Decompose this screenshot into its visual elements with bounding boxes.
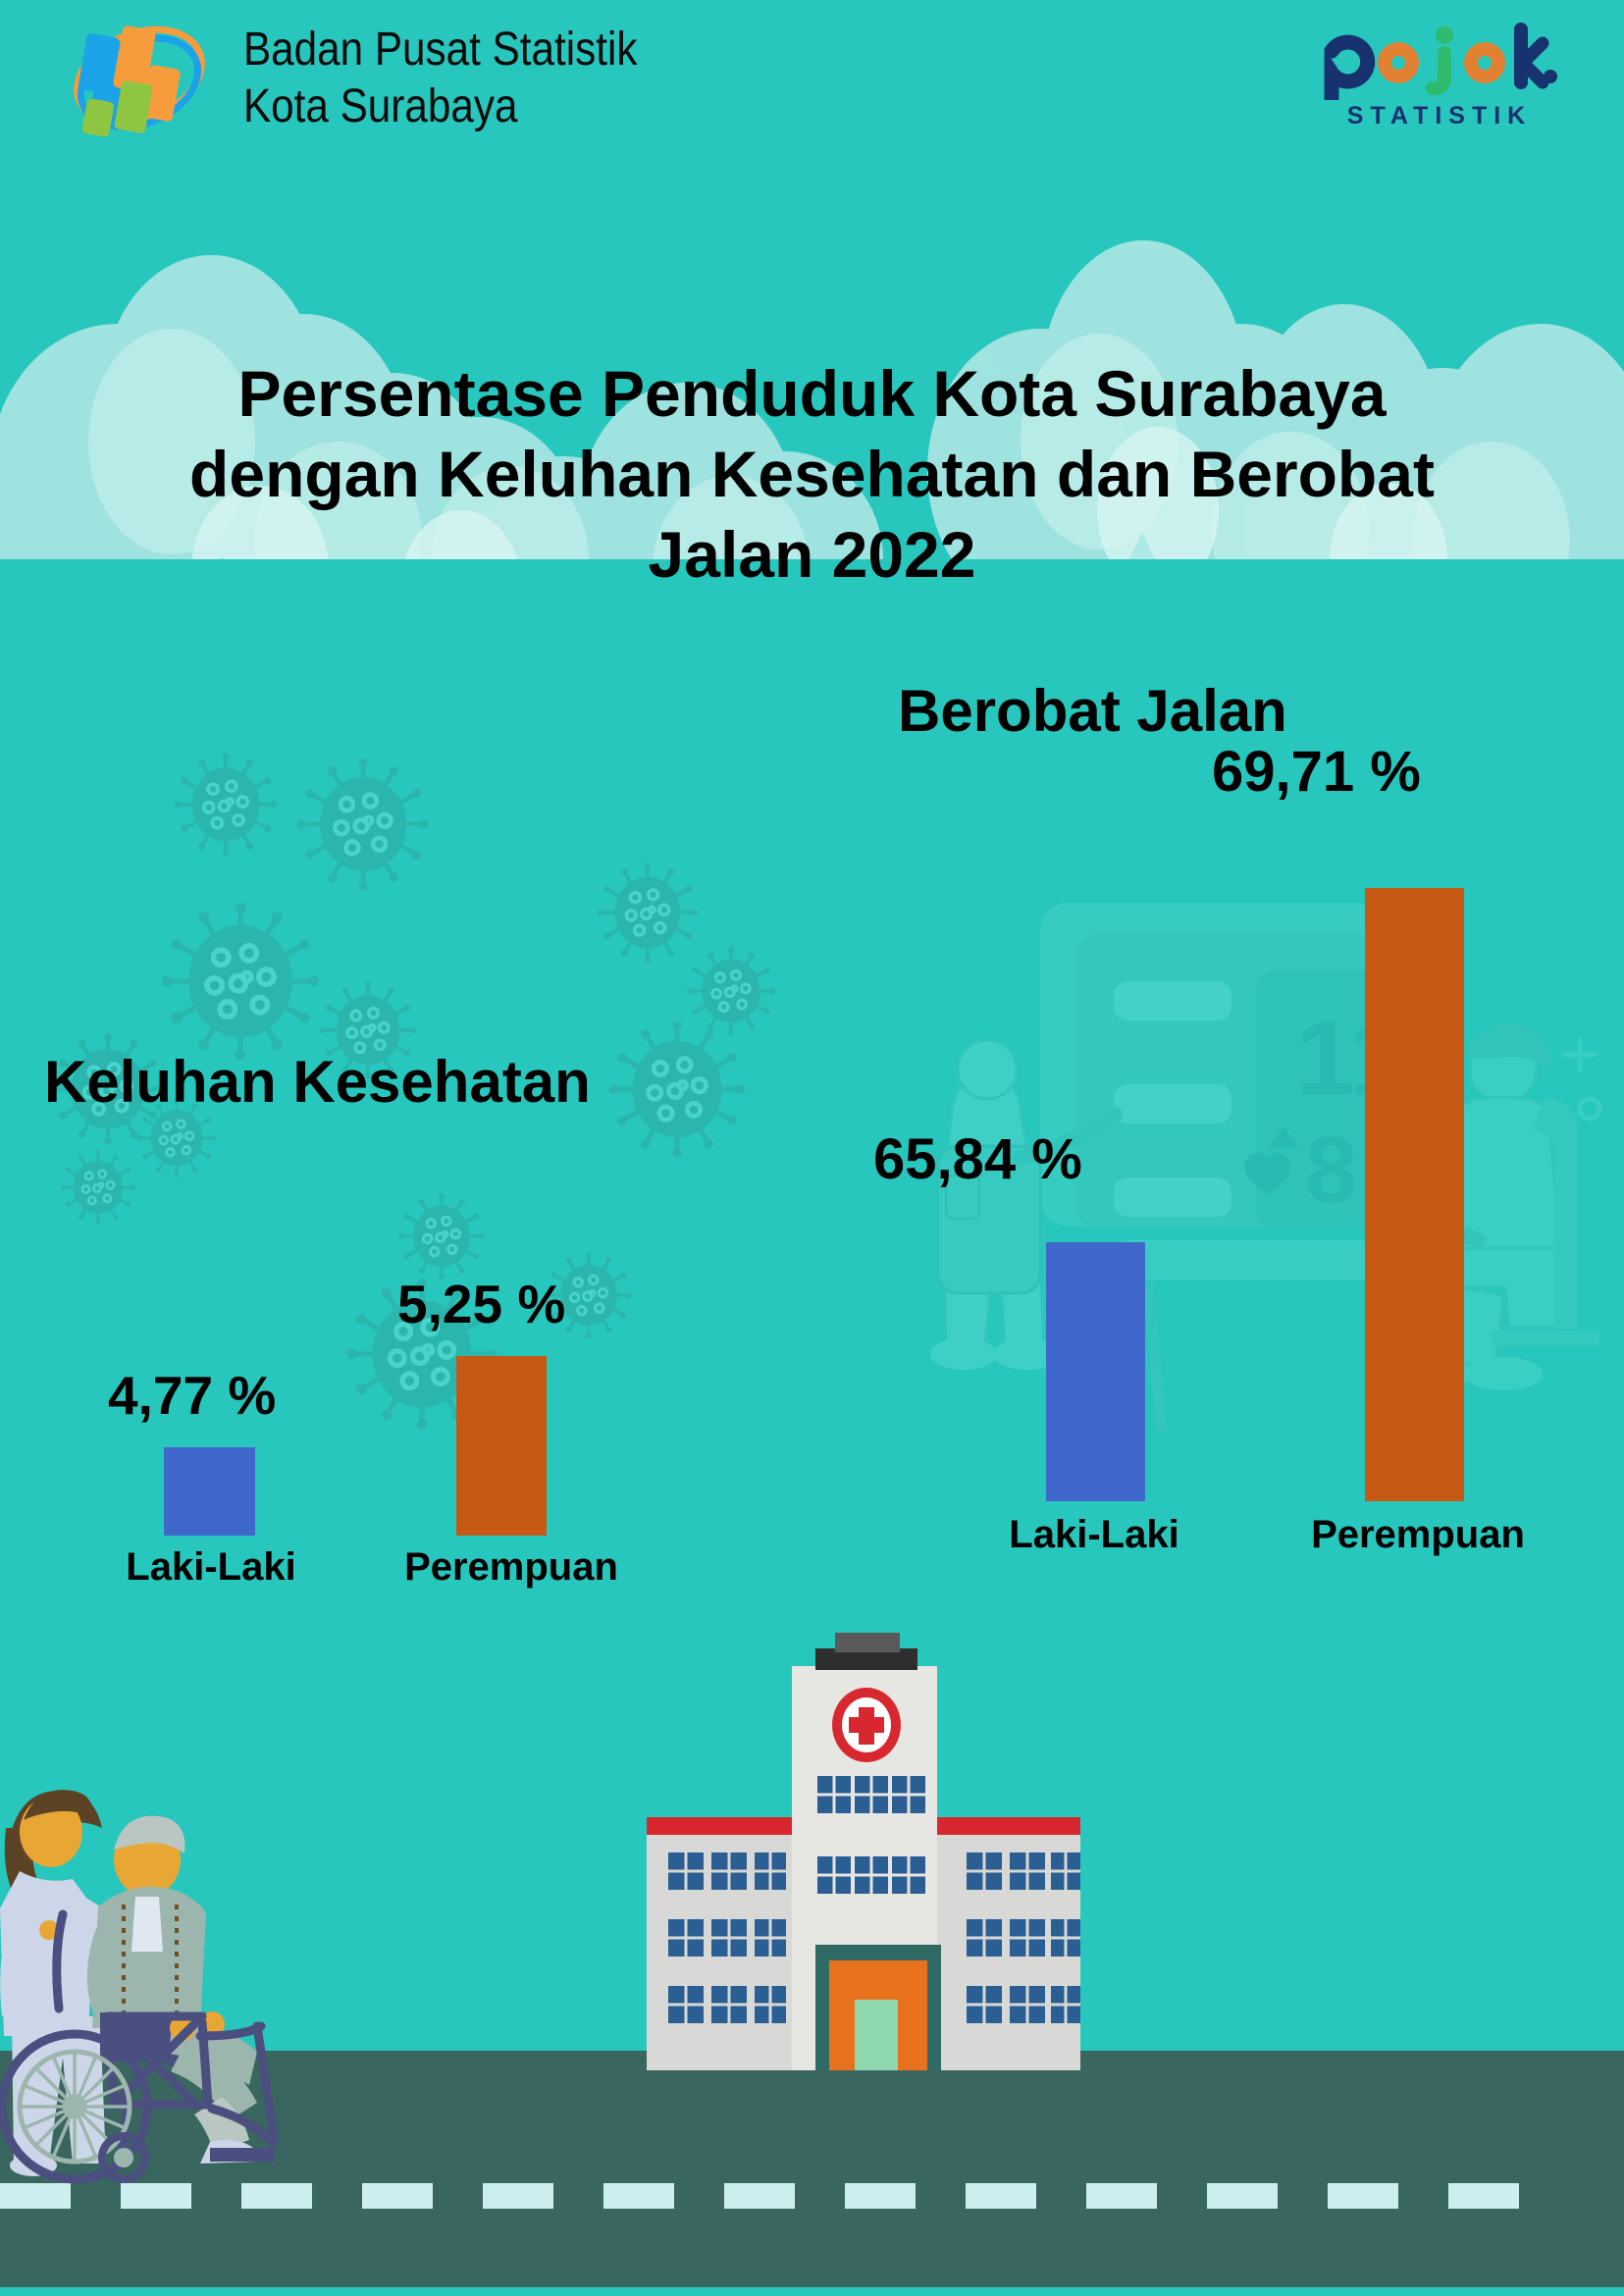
bps-title: Badan Pusat Statistik Kota Surabaya [243,22,638,135]
nurse-pushing-wheelchair-icon [0,1722,383,2193]
label-berobat-perempuan: Perempuan [1300,1513,1536,1557]
label-keluhan-laki-laki: Laki-Laki [120,1545,302,1590]
pojok-subtitle: STATISTIK [1322,102,1557,130]
hospital-building-icon [643,1599,1084,2070]
chart-title-keluhan-kesehatan: Keluhan Kesehatan [44,1048,591,1116]
road-dash [724,2183,795,2209]
page-title: Persentase Penduduk Kota Surabaya dengan… [59,353,1565,595]
bar-berobat-laki-laki[interactable] [1046,1242,1145,1501]
road-dash [483,2183,553,2209]
infographic-canvas: Badan Pusat Statistik Kota Surabaya [0,0,1624,2296]
value-berobat-laki-laki: 65,84 % [873,1126,1082,1192]
road-dash [1086,2183,1157,2209]
road-dash [603,2183,674,2209]
pojok-wordmark-icon [1322,22,1557,100]
bar-keluhan-perempuan[interactable] [456,1356,547,1536]
bar-keluhan-laki-laki[interactable] [164,1447,255,1536]
header: Badan Pusat Statistik Kota Surabaya [0,0,1624,167]
bps-logo-icon [61,14,218,141]
chart-title-berobat-jalan: Berobat Jalan [898,677,1287,745]
label-berobat-laki-laki: Laki-Laki [981,1513,1207,1557]
road-dash [1448,2183,1519,2209]
value-berobat-perempuan: 69,71 % [1212,739,1421,805]
road-dash [845,2183,916,2209]
road-dash [966,2183,1036,2209]
chart-keluhan-kesehatan: Keluhan Kesehatan 4,77 % 5,25 % Laki-Lak… [0,1001,687,1609]
road-dash [1207,2183,1278,2209]
value-keluhan-perempuan: 5,25 % [397,1273,565,1335]
chart-berobat-jalan: Berobat Jalan 69,71 % 65,84 % Laki-Laki … [913,667,1624,1609]
road-dash [1328,2183,1398,2209]
pojok-statistik-logo: STATISTIK [1322,22,1557,135]
bar-berobat-perempuan[interactable] [1365,888,1464,1501]
label-keluhan-perempuan: Perempuan [402,1545,620,1590]
bottom-edge-strip [0,2287,1624,2296]
value-keluhan-laki-laki: 4,77 % [108,1364,276,1427]
